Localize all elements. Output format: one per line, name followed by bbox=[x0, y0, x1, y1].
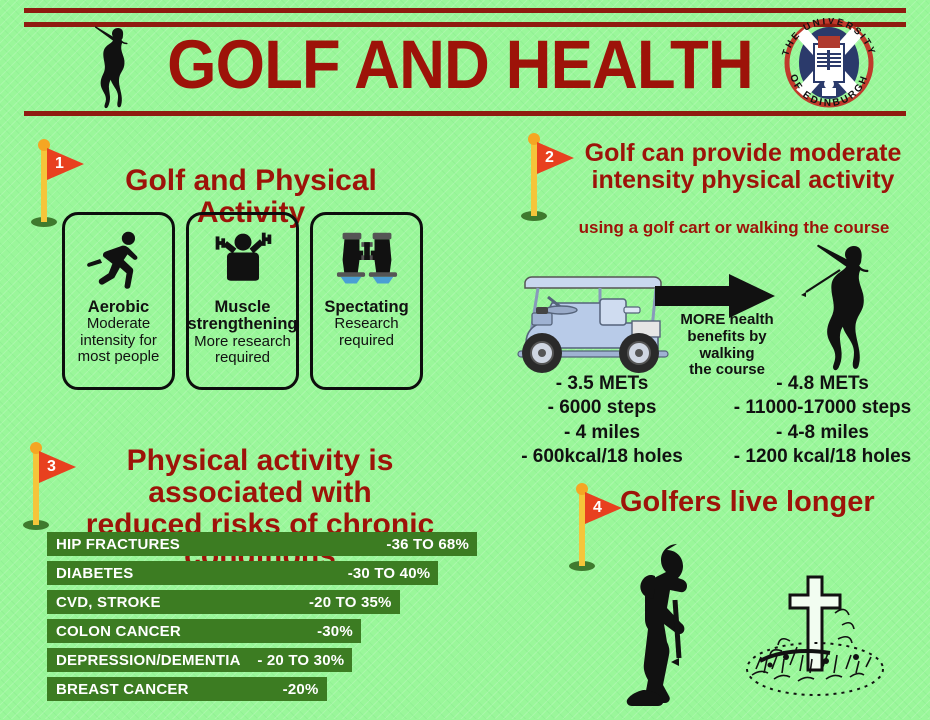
grave-cross-icon bbox=[730, 565, 900, 700]
chart-bar-label: CVD, STROKE bbox=[56, 594, 161, 611]
chart-bar-label: COLON CANCER bbox=[56, 623, 181, 640]
chart-bar: HIP FRACTURES-36 TO 68% bbox=[47, 532, 477, 556]
chart-bar-value: -30% bbox=[317, 623, 353, 640]
arrow-caption: MORE health benefits by walking the cour… bbox=[663, 312, 791, 379]
chart-bar-value: - 20 TO 30% bbox=[257, 652, 344, 669]
chart-bar-value: -20% bbox=[283, 681, 319, 698]
running-person-icon bbox=[86, 223, 152, 297]
section-2-subtitle: using a golf cart or walking the course bbox=[548, 218, 920, 238]
chronic-conditions-bar-chart: HIP FRACTURES-36 TO 68%DIABETES-30 TO 40… bbox=[47, 532, 477, 706]
chart-bar: DEPRESSION/DEMENTIA- 20 TO 30% bbox=[47, 648, 352, 672]
card-spectating-heading: Spectating bbox=[324, 299, 408, 316]
section-2-title: Golf can provide moderate intensity phys… bbox=[578, 140, 908, 193]
flag-number-2: 2 bbox=[545, 149, 554, 166]
chart-bar: BREAST CANCER-20% bbox=[47, 677, 327, 701]
university-of-edinburgh-crest: THE UNIVERSITY OF EDINBURGH bbox=[770, 18, 888, 108]
activity-cards: Aerobic Moderate intensity for most peop… bbox=[62, 212, 423, 390]
card-muscle-heading: Muscle strengthening bbox=[188, 299, 298, 334]
dumbbell-lifter-icon bbox=[210, 223, 276, 297]
infographic-poster: GOLF AND HEALTH THE UNIVERSITY bbox=[0, 0, 930, 719]
chart-bar-label: BREAST CANCER bbox=[56, 681, 189, 698]
chart-bar-label: DEPRESSION/DEMENTIA bbox=[56, 652, 241, 669]
chart-bar: DIABETES-30 TO 40% bbox=[47, 561, 438, 585]
chart-bar-value: -20 TO 35% bbox=[309, 594, 392, 611]
chart-bar-value: -30 TO 40% bbox=[348, 565, 431, 582]
card-spectating-body: Research required bbox=[324, 316, 408, 348]
flag-number-4: 4 bbox=[593, 499, 602, 516]
celebrating-golfer-silhouette-icon bbox=[613, 540, 733, 715]
header-rule-top bbox=[24, 8, 906, 13]
card-spectating[interactable]: Spectating Research required bbox=[310, 212, 423, 390]
card-aerobic-body: Moderate intensity for most people bbox=[78, 316, 160, 365]
card-aerobic-heading: Aerobic bbox=[78, 299, 160, 316]
card-muscle-body: More research required bbox=[188, 334, 298, 366]
chart-bar-value: -36 TO 68% bbox=[386, 536, 469, 553]
flag-number-1: 1 bbox=[55, 155, 64, 172]
chart-bar: COLON CANCER-30% bbox=[47, 619, 361, 643]
page-title: GOLF AND HEALTH bbox=[184, 20, 736, 108]
card-muscle-strengthening[interactable]: Muscle strengthening More research requi… bbox=[186, 212, 299, 390]
golf-swing-silhouette-icon-2 bbox=[800, 240, 886, 380]
chart-bar-label: HIP FRACTURES bbox=[56, 536, 180, 553]
walking-stats: - 4.8 METs - 11000-17000 steps - 4-8 mil… bbox=[720, 372, 925, 469]
header-rule-bottom bbox=[24, 111, 906, 116]
cart-stats: - 3.5 METs - 6000 steps - 4 miles - 600k… bbox=[512, 372, 692, 469]
section-4-title: Golfers live longer bbox=[620, 487, 920, 518]
chart-bar-label: DIABETES bbox=[56, 565, 133, 582]
golf-swing-silhouette-icon bbox=[78, 24, 144, 110]
binoculars-icon bbox=[333, 223, 401, 297]
card-aerobic[interactable]: Aerobic Moderate intensity for most peop… bbox=[62, 212, 175, 390]
chart-bar: CVD, STROKE-20 TO 35% bbox=[47, 590, 400, 614]
section-flag-2: 2 bbox=[512, 128, 576, 224]
flag-number-3: 3 bbox=[47, 458, 56, 475]
